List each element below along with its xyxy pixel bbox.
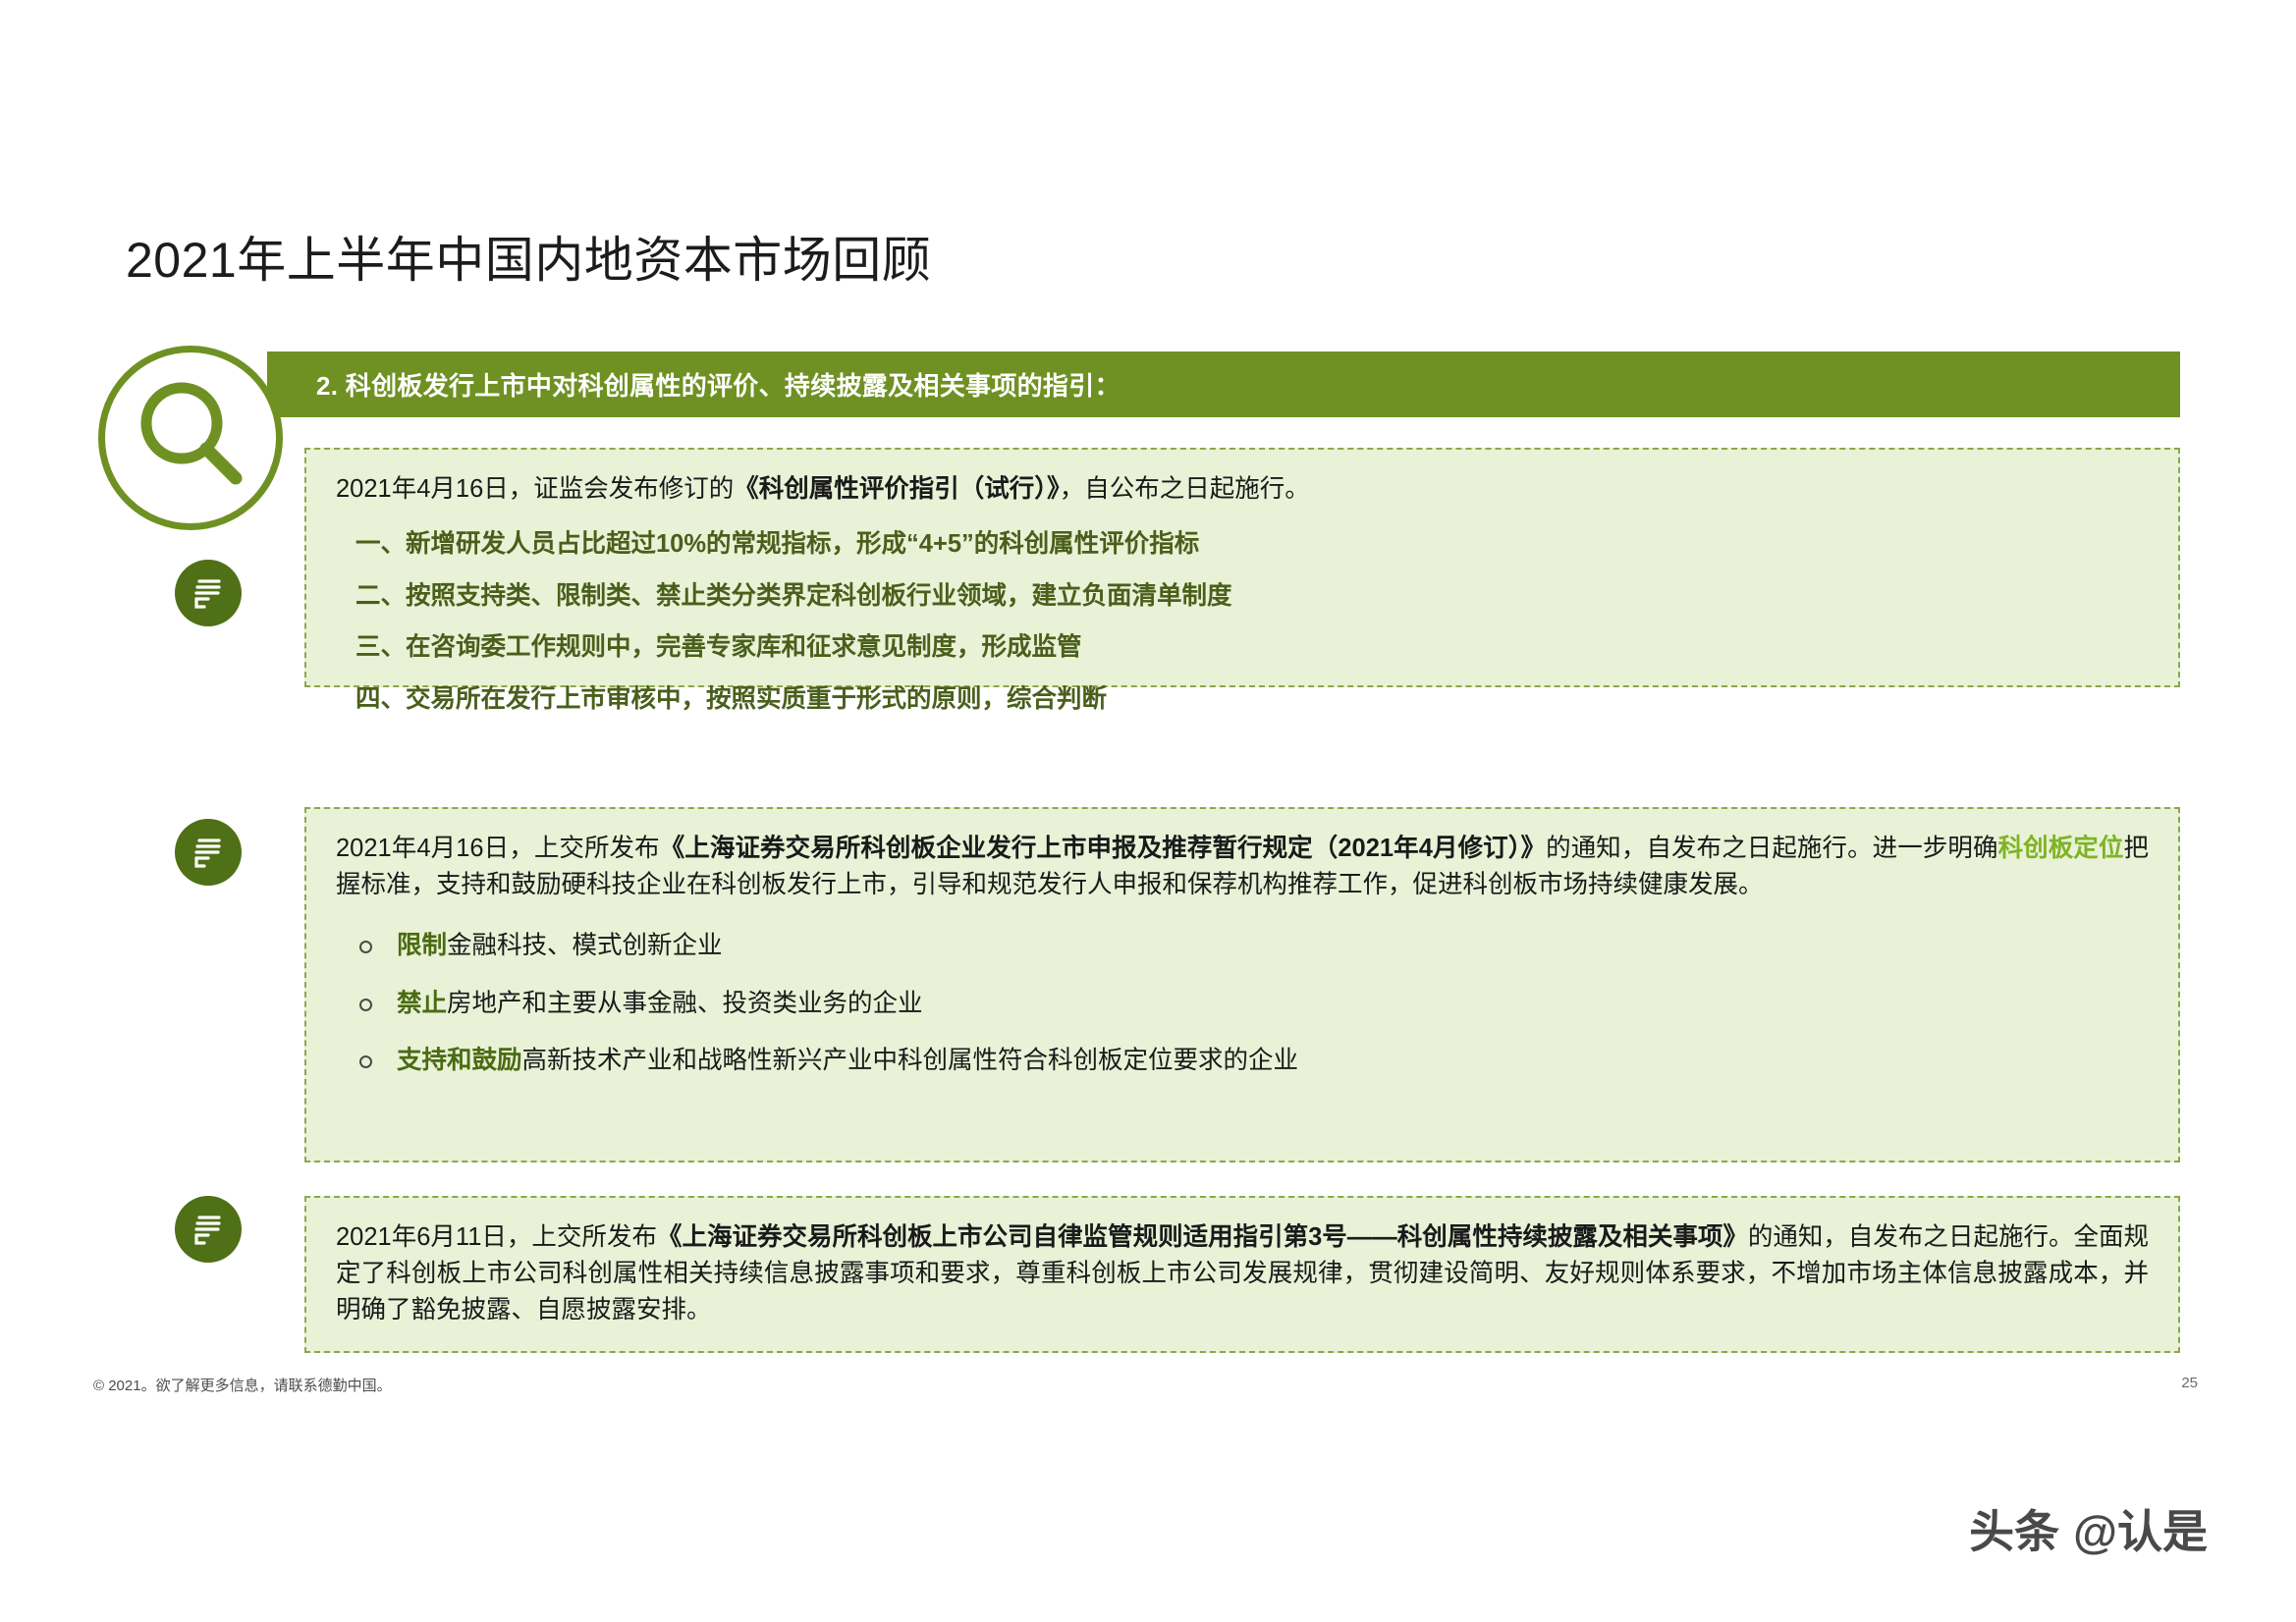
box-3-intro-seg-0: 2021年6月11日，上交所发布 <box>336 1223 657 1251</box>
document-icon <box>175 560 242 626</box>
bullet-lead: 禁止 <box>397 990 447 1017</box>
box-1-intro-part-0: 2021年4月16日，证监会发布修订的 <box>336 475 734 503</box>
bullet-lead: 限制 <box>397 932 447 959</box>
page-title: 2021年上半年中国内地资本市场回顾 <box>126 233 931 290</box>
watermark-handle: @认是 <box>2073 1496 2208 1561</box>
box-2-intro-seg-2: 的通知，自发布之日起施行。进一步明确 <box>1546 835 1997 862</box>
bullet-lead: 支持和鼓励 <box>397 1047 522 1074</box>
search-icon <box>98 346 283 530</box>
section-header-label: 2. 科创板发行上市中对科创属性的评价、持续披露及相关事项的指引： <box>316 366 1121 403</box>
box-1-item-list: 一、新增研发人员占比超过10%的常规指标，形成“4+5”的科创属性评价指标 二、… <box>336 529 2149 714</box>
list-item: 四、交易所在发行上市审核中，按照实质重于形式的原则，综合判断 <box>336 684 2149 715</box>
list-item: 限制金融科技、模式创新企业 <box>336 931 2149 961</box>
circle-bullet-icon <box>359 941 372 953</box>
content-box-3: 2021年6月11日，上交所发布《上海证券交易所科创板上市公司自律监管规则适用指… <box>304 1196 2180 1353</box>
box-2-intro: 2021年4月16日，上交所发布《上海证券交易所科创板企业发行上市申报及推荐暂行… <box>336 831 2149 903</box>
box-2-intro-seg-0: 2021年4月16日，上交所发布 <box>336 835 660 862</box>
list-item: 二、按照支持类、限制类、禁止类分类界定科创板行业领域，建立负面清单制度 <box>336 581 2149 612</box>
list-item: 支持和鼓励高新技术产业和战略性新兴产业中科创属性符合科创板定位要求的企业 <box>336 1046 2149 1076</box>
list-item: 禁止房地产和主要从事金融、投资类业务的企业 <box>336 989 2149 1019</box>
slide-canvas: 2021年上半年中国内地资本市场回顾 2. 科创板发行上市中对科创属性的评价、持… <box>0 0 2296 1622</box>
content-box-1: 2021年4月16日，证监会发布修订的《科创属性评价指引（试行）》，自公布之日起… <box>304 448 2180 687</box>
document-icon <box>175 1196 242 1263</box>
bullet-rest: 房地产和主要从事金融、投资类业务的企业 <box>447 990 923 1017</box>
list-item: 一、新增研发人员占比超过10%的常规指标，形成“4+5”的科创属性评价指标 <box>336 529 2149 560</box>
page-number: 25 <box>2181 1375 2198 1391</box>
copyright-note: © 2021。欲了解更多信息，请联系德勤中国。 <box>93 1375 392 1395</box>
box-2-intro-seg-1: 《上海证券交易所科创板企业发行上市申报及推荐暂行规定（2021年4月修订）》 <box>660 835 1546 862</box>
bullet-rest: 高新技术产业和战略性新兴产业中科创属性符合科创板定位要求的企业 <box>522 1047 1299 1074</box>
box-1-intro-part-1: 《科创属性评价指引（试行）》 <box>734 475 1060 503</box>
box-3-intro: 2021年6月11日，上交所发布《上海证券交易所科创板上市公司自律监管规则适用指… <box>336 1219 2149 1328</box>
watermark: 头条 @认是 <box>1969 1496 2208 1561</box>
box-2-bullet-list: 限制金融科技、模式创新企业 禁止房地产和主要从事金融、投资类业务的企业 支持和鼓… <box>336 931 2149 1076</box>
box-1-intro-part-2: ，自公布之日起施行。 <box>1060 475 1310 503</box>
watermark-brand: 头条 <box>1969 1496 2059 1561</box>
circle-bullet-icon <box>359 1055 372 1068</box>
box-2-intro-highlight: 科创板定位 <box>1998 835 2124 862</box>
box-1-intro: 2021年4月16日，证监会发布修订的《科创属性评价指引（试行）》，自公布之日起… <box>336 471 2149 508</box>
content-box-2: 2021年4月16日，上交所发布《上海证券交易所科创板企业发行上市申报及推荐暂行… <box>304 807 2180 1162</box>
circle-bullet-icon <box>359 999 372 1011</box>
section-header-bar: 2. 科创板发行上市中对科创属性的评价、持续披露及相关事项的指引： <box>267 351 2180 417</box>
list-item: 三、在咨询委工作规则中，完善专家库和征求意见制度，形成监管 <box>336 632 2149 663</box>
box-3-intro-seg-1: 《上海证券交易所科创板上市公司自律监管规则适用指引第3号——科创属性持续披露及相… <box>657 1223 1748 1251</box>
bullet-rest: 金融科技、模式创新企业 <box>447 932 723 959</box>
document-icon <box>175 819 242 886</box>
